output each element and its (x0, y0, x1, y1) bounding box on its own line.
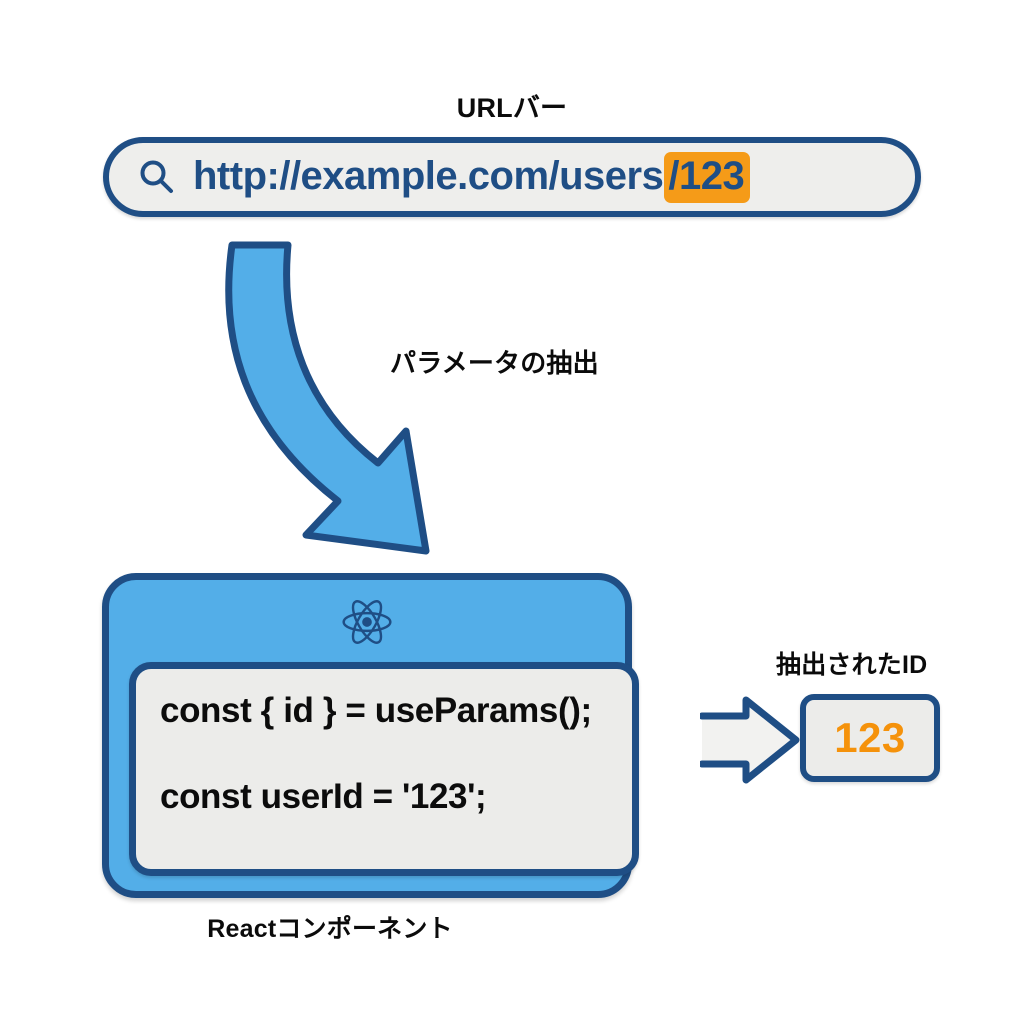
extracted-id-badge: 123 (800, 694, 940, 782)
code-line: const userId = '123'; (160, 777, 632, 817)
url-bar[interactable]: http://example.com/users/123 (103, 137, 921, 217)
urlbar-caption: URLバー (0, 86, 1024, 125)
react-component-caption: Reactコンポーネント (0, 909, 660, 945)
react-component-box: const { id } = useParams(); const userId… (102, 573, 632, 898)
react-atom-logo-icon (339, 594, 395, 650)
code-line: const { id } = useParams(); (160, 691, 632, 731)
url-prefix: http://example.com/users (193, 154, 663, 199)
extracted-id-caption: 抽出されたID (776, 645, 927, 681)
parameter-extraction-label: パラメータの抽出 (390, 343, 599, 380)
diagram-canvas: URLバー http://example.com/users/123 パラメータ… (0, 0, 1024, 1024)
url-id-highlight: /123 (664, 152, 750, 203)
search-icon (137, 157, 177, 197)
extracted-id-value: 123 (834, 714, 906, 762)
code-panel: const { id } = useParams(); const userId… (129, 662, 639, 876)
curved-down-right-arrow-icon (210, 235, 530, 565)
right-arrow-icon (700, 686, 808, 794)
url-text: http://example.com/users/123 (193, 152, 750, 203)
